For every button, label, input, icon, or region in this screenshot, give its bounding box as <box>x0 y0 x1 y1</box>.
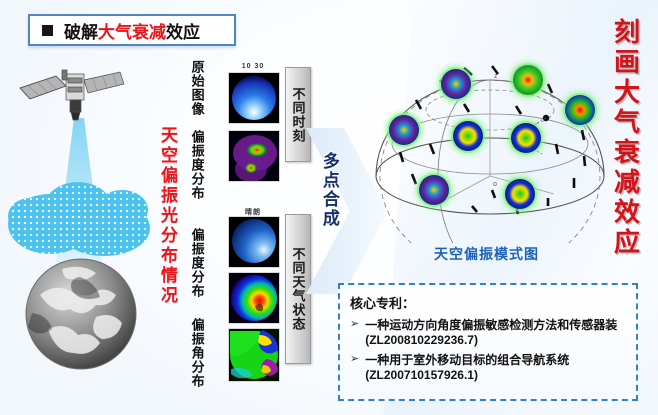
multi-point-synthesis-label: 多点合成 <box>320 152 338 228</box>
sky-patch <box>441 69 471 99</box>
label-polarization-degree-bottom: 偏振度分布 <box>190 228 204 298</box>
sky-polarization-caption: 天空偏振光分布情况 <box>158 126 176 306</box>
page-title-suffix: 效应 <box>166 23 200 42</box>
patent-item[interactable]: ➢ 一种用于室外移动目标的组合导航系统(ZL200710157926.1) <box>350 353 628 383</box>
state-box-different-times-label: 不同时刻 <box>289 87 308 143</box>
page-title-highlight: 大气衰减 <box>98 23 166 42</box>
sky-patch <box>419 175 449 205</box>
chevron-right-icon: ➢ <box>350 318 359 332</box>
thumbnail-polarization-degree-1030[interactable] <box>228 130 280 182</box>
thumbnail-raw-sky-image-clear[interactable] <box>228 216 280 268</box>
earth-globe-icon <box>22 255 140 373</box>
patent-item[interactable]: ➢ 一种运动方向角度偏振敏感检测方法和传感器装(ZL200810229236.7… <box>350 318 628 348</box>
patent-item-text: 一种用于室外移动目标的组合导航系统(ZL200710157926.1) <box>365 353 628 383</box>
sky-patch <box>513 65 543 95</box>
svg-text:o: o <box>493 181 497 188</box>
label-polarization-degree-top: 偏振度分布 <box>190 130 204 200</box>
sky-polarization-dome-diagram: z o <box>368 48 612 243</box>
thumbnail-polarization-angle-clear[interactable] <box>228 328 280 382</box>
sky-patch <box>453 121 483 151</box>
square-bullet-icon <box>42 25 53 36</box>
state-box-different-weather-label: 不同天气状态 <box>289 247 308 331</box>
slide-canvas: 破解大气衰减效应 <box>0 0 658 415</box>
sky-patch <box>389 115 419 145</box>
core-patent-box: 核心专利： ➢ 一种运动方向角度偏振敏感检测方法和传感器装(ZL20081022… <box>338 283 638 401</box>
label-raw-image: 原始图像 <box>190 60 204 116</box>
sky-patch <box>565 95 595 125</box>
thumbnail-polarization-degree-clear[interactable] <box>228 272 280 324</box>
satellite-icon <box>18 66 130 136</box>
thumbnail-raw-sky-image-1030[interactable] <box>228 72 280 124</box>
page-title-prefix: 破解 <box>64 23 98 42</box>
sky-patch <box>505 179 535 209</box>
chevron-right-icon: ➢ <box>350 353 359 367</box>
right-vertical-title: 刻画大气衰减效应 <box>612 18 639 258</box>
core-patent-title: 核心专利： <box>350 293 628 312</box>
slide-title-box: 破解大气衰减效应 <box>28 14 236 46</box>
page-title: 破解大气衰减效应 <box>64 18 200 43</box>
patent-item-text: 一种运动方向角度偏振敏感检测方法和传感器装(ZL200810229236.7) <box>365 318 628 348</box>
sky-patch <box>511 123 541 153</box>
label-polarization-angle: 偏振角分布 <box>190 318 204 388</box>
thumb-caption-time: 10 30 <box>228 63 278 70</box>
cloud-icon <box>4 160 156 260</box>
dome-caption: 天空偏振模式图 <box>434 244 539 264</box>
